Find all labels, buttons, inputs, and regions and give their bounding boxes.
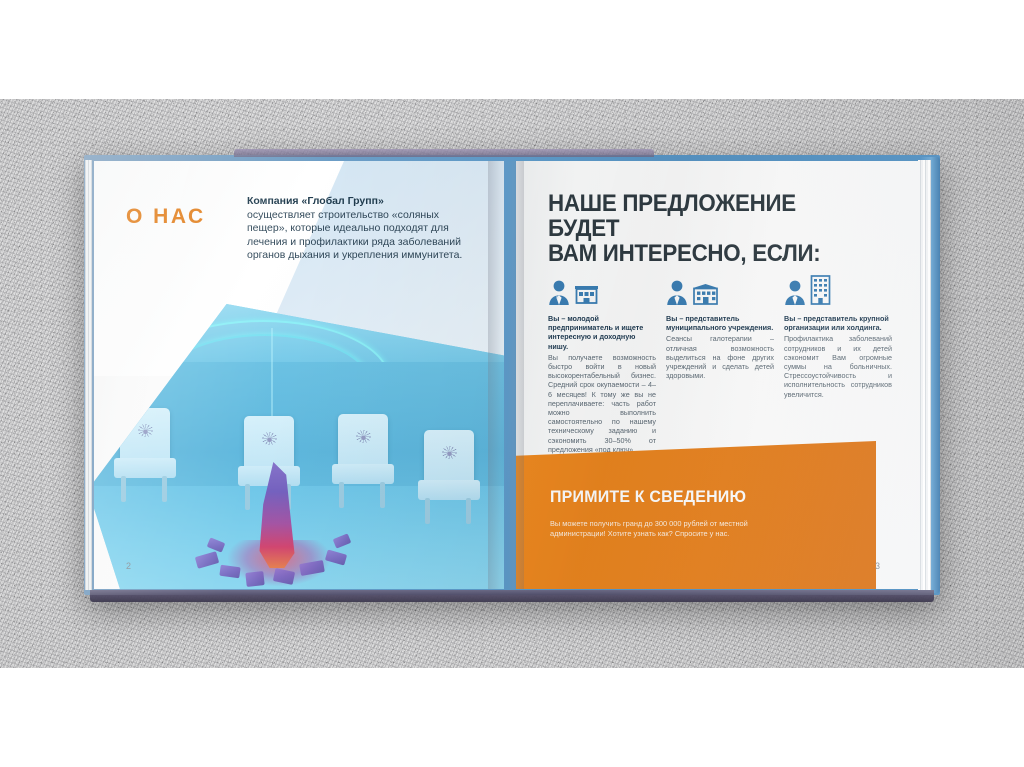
column-body: Профилактика заболеваний сотрудников и и… (784, 334, 892, 398)
column-icons (784, 271, 892, 305)
page-number-right: 3 (875, 561, 880, 571)
open-brochure: О НАС Компания «Глобал Групп» осуществля… (84, 155, 940, 595)
column-heading: Вы – представитель муниципального учрежд… (666, 314, 774, 332)
callout-title: ПРИМИТЕ К СВЕДЕНИЮ (550, 487, 746, 507)
offer-headline-line2: ВАМ ИНТЕРЕСНО, ЕСЛИ: (548, 241, 864, 266)
brochure-page-right: НАШЕ ПРЕДЛОЖЕНИЕ БУДЕТ ВАМ ИНТЕРЕСНО, ЕС… (516, 161, 920, 589)
about-us-copy: Компания «Глобал Групп» осуществляет стр… (247, 195, 477, 263)
about-us-heading: О НАС (126, 205, 206, 229)
brochure-page-left: О НАС Компания «Глобал Групп» осуществля… (94, 161, 504, 589)
offer-headline: НАШЕ ПРЕДЛОЖЕНИЕ БУДЕТ ВАМ ИНТЕРЕСНО, ЕС… (548, 191, 864, 266)
column-icons (548, 271, 656, 305)
about-us-body: осуществляет строительство «соляных пеще… (247, 209, 462, 262)
businessman-icon (548, 279, 570, 305)
about-us-lead: Компания «Глобал Групп» (247, 195, 477, 209)
businessman-icon (666, 279, 688, 305)
page-block-top-edge (234, 149, 654, 157)
column-body: Сеансы галотерапии – отличная возможност… (666, 334, 774, 380)
audience-columns: Вы – молодой предприниматель и ищете инт… (548, 271, 900, 454)
offer-headline-line1: НАШЕ ПРЕДЛОЖЕНИЕ БУДЕТ (548, 191, 864, 241)
column-heading: Вы – молодой предприниматель и ищете инт… (548, 314, 656, 351)
page-stack-left (85, 160, 92, 590)
businessman-icon (784, 279, 806, 305)
column-heading: Вы – представитель крупной организации и… (784, 314, 892, 332)
office-tower-icon (810, 275, 831, 305)
callout-block: ПРИМИТЕ К СВЕДЕНИЮ Вы можете получить гр… (516, 441, 876, 589)
column-icons (666, 271, 774, 305)
page-number-left: 2 (126, 561, 131, 571)
audience-column-municipal: Вы – представитель муниципального учрежд… (666, 271, 774, 454)
column-body: Вы получаете возможность быстро войти в … (548, 353, 656, 454)
municipal-building-icon (692, 283, 719, 305)
screenshot-stage: О НАС Компания «Глобал Групп» осуществля… (0, 0, 1024, 767)
audience-column-corporate: Вы – представитель крупной организации и… (784, 271, 892, 454)
storefront-icon (574, 284, 599, 305)
callout-body: Вы можете получить гранд до 300 000 рубл… (550, 519, 780, 540)
audience-column-entrepreneur: Вы – молодой предприниматель и ищете инт… (548, 271, 656, 454)
